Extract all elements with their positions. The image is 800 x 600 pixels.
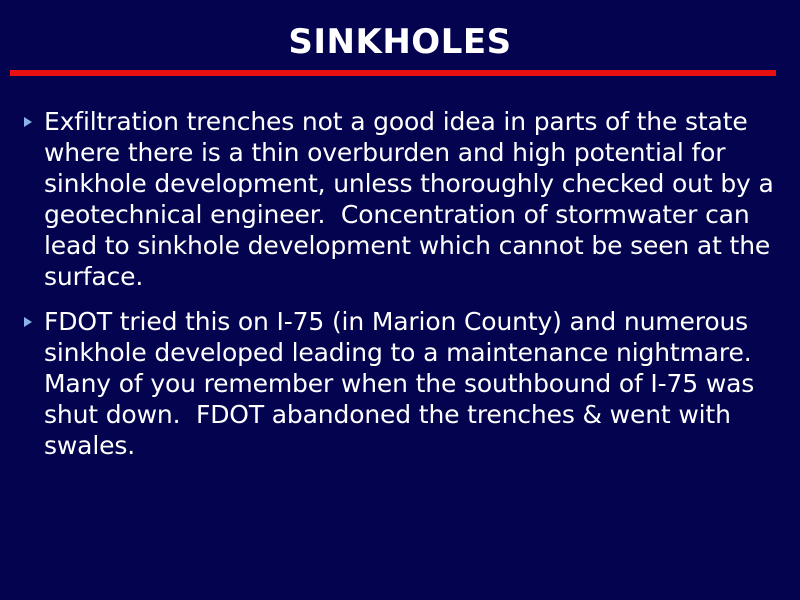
- presentation-slide: SINKHOLES Exfiltration trenches not a go…: [0, 0, 800, 600]
- triangle-right-bullet-icon: [24, 106, 44, 127]
- triangle-right-bullet-icon: [24, 306, 44, 327]
- bullet-text: FDOT tried this on I-75 (in Marion Count…: [44, 306, 784, 461]
- slide-title-block: SINKHOLES: [0, 22, 800, 62]
- list-item: Exfiltration trenches not a good idea in…: [24, 106, 784, 292]
- page-title: SINKHOLES: [288, 22, 511, 62]
- title-divider-rule: [10, 70, 776, 76]
- slide-body: Exfiltration trenches not a good idea in…: [24, 106, 784, 461]
- list-item: FDOT tried this on I-75 (in Marion Count…: [24, 306, 784, 461]
- bullet-text: Exfiltration trenches not a good idea in…: [44, 106, 784, 292]
